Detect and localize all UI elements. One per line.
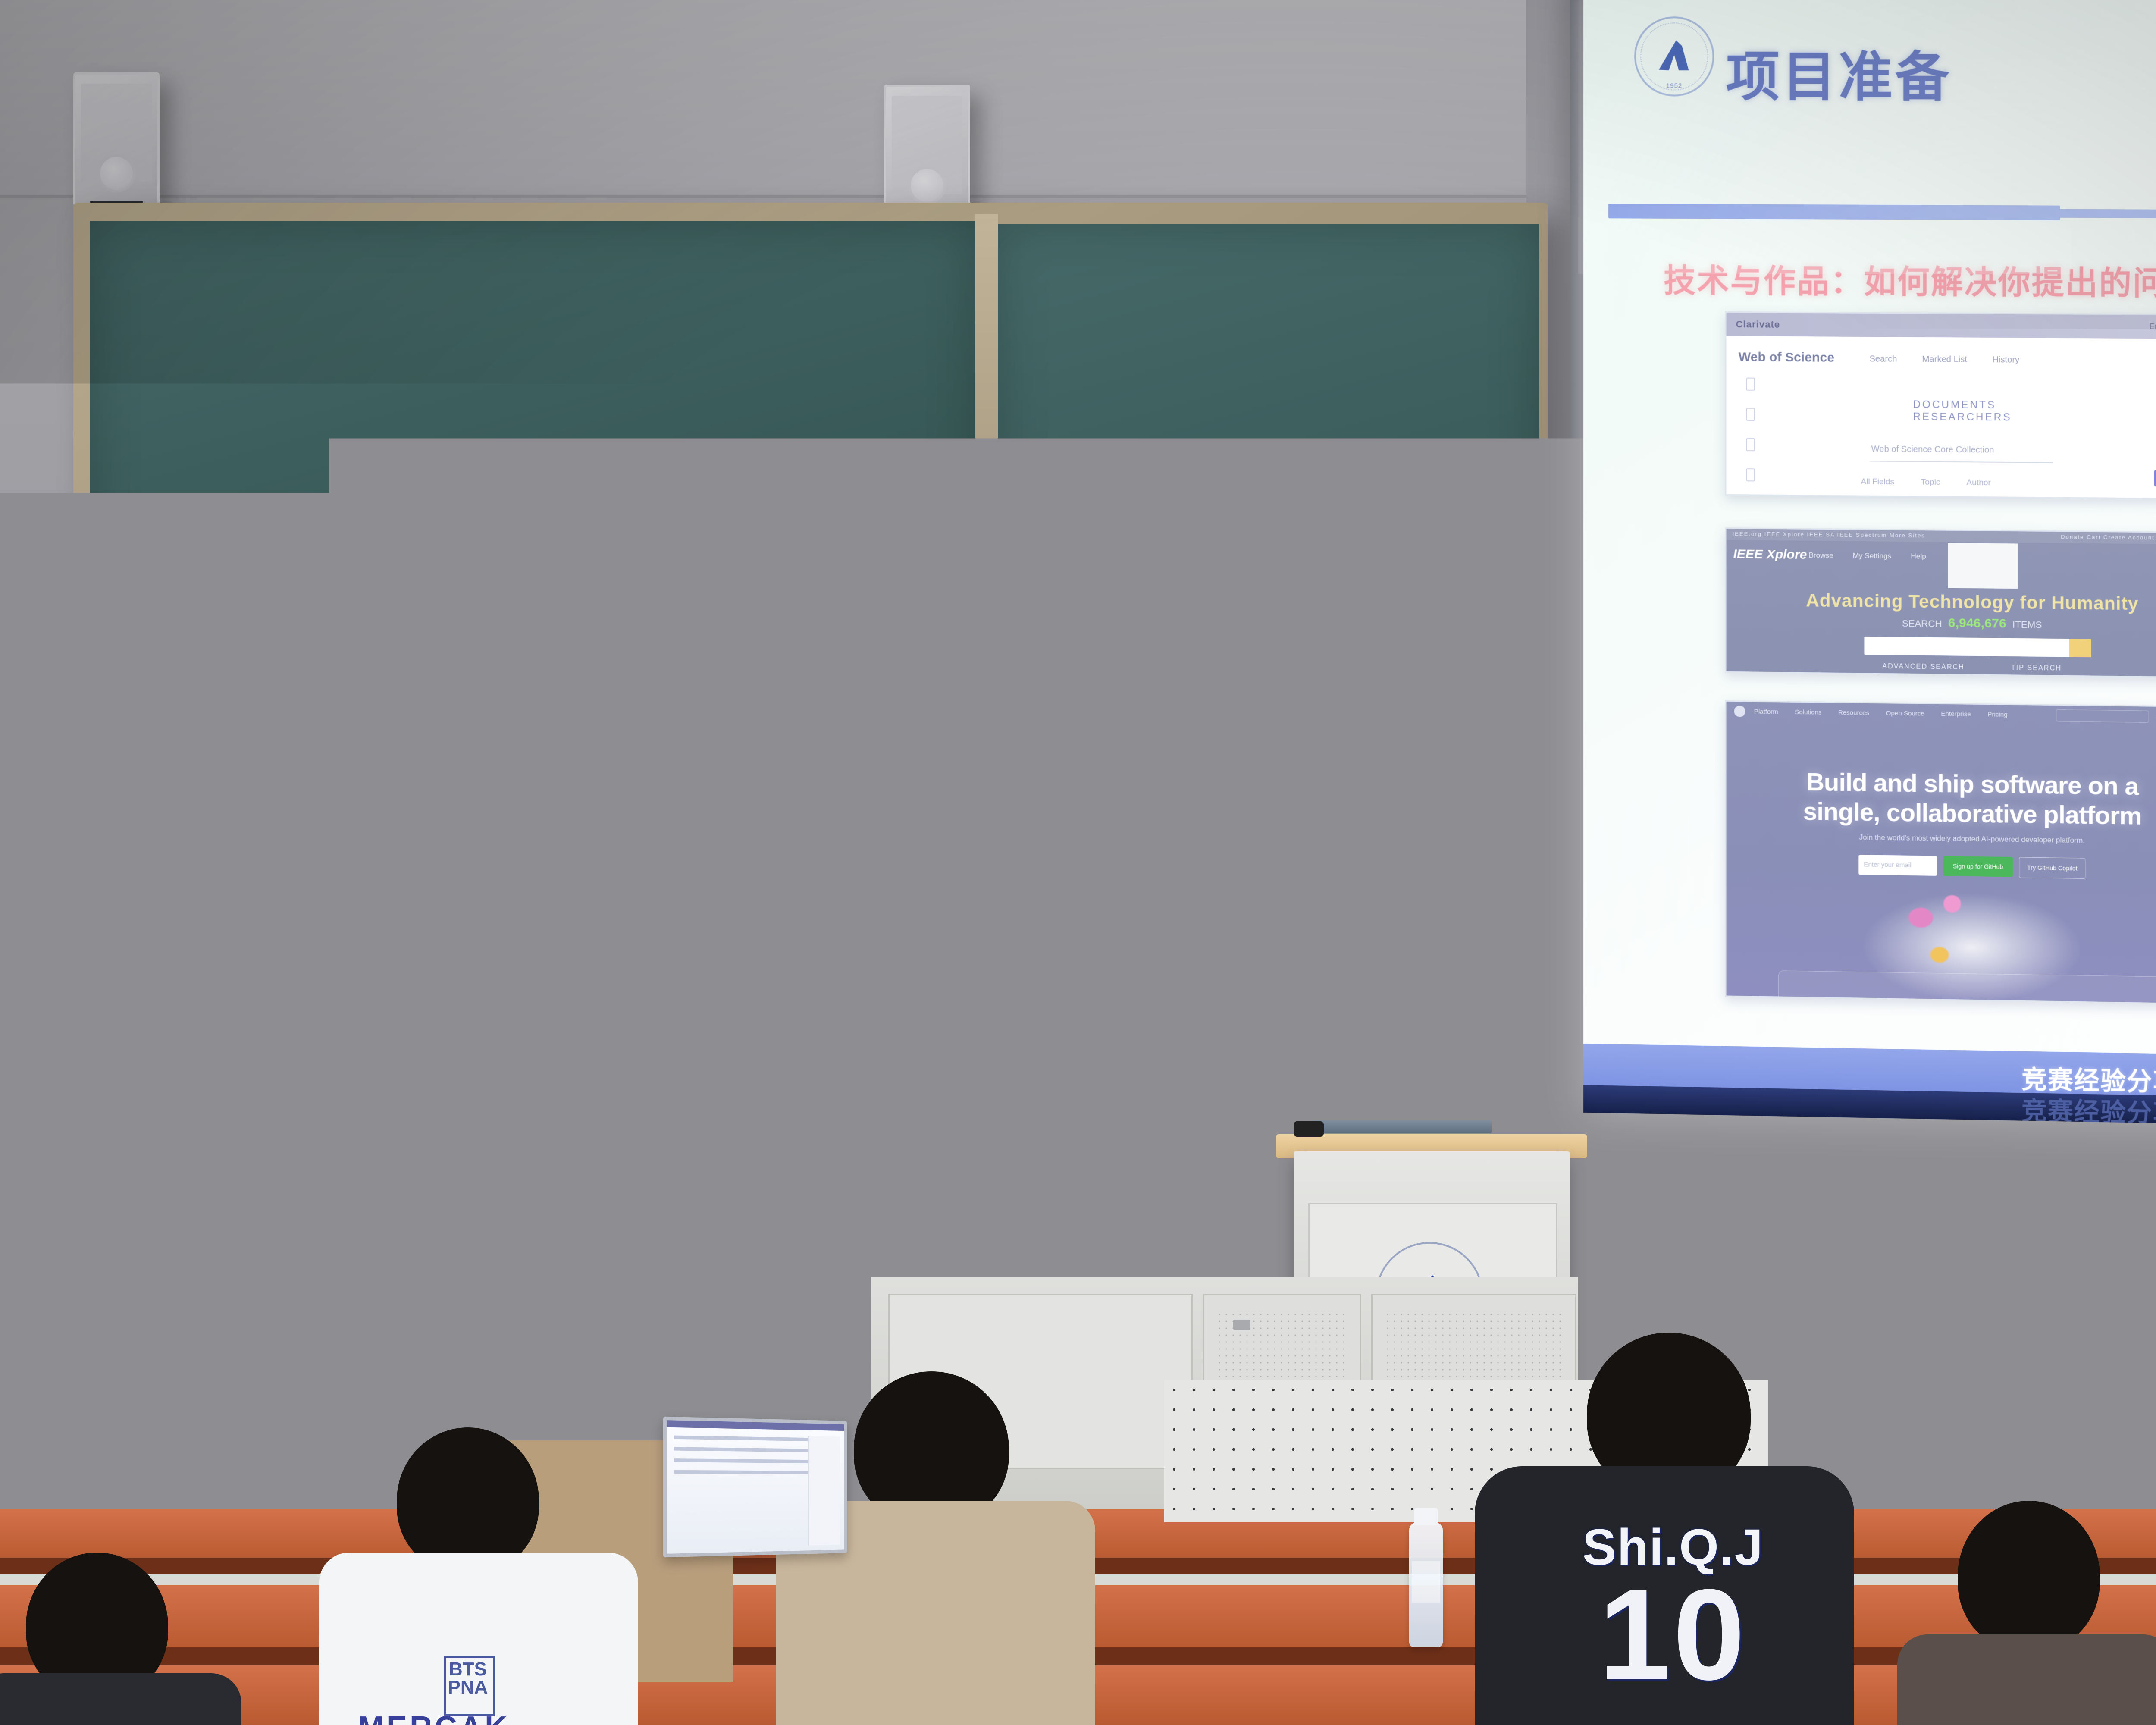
github-page: Platform Solutions Resources Open Source…	[1727, 702, 2156, 1004]
podium-remote[interactable]	[1294, 1121, 1324, 1137]
wall-speaker-left	[73, 72, 160, 206]
title-underline-bar	[1608, 204, 2060, 220]
wos-nav-history[interactable]: History	[1992, 355, 2019, 365]
github-email-input[interactable]: Enter your email	[1858, 855, 1937, 876]
ieee-count-suffix: ITEMS	[2012, 619, 2042, 630]
speaker-woofer	[97, 154, 135, 192]
github-nav-platform[interactable]: Platform	[1754, 708, 1778, 716]
github-subheadline: Join the world's most widely adopted AI-…	[1727, 831, 2156, 847]
github-email-placeholder: Enter your email	[1864, 861, 1911, 869]
ieee-xplore-logo: IEEE Xplore	[1733, 547, 1807, 562]
github-auth-links[interactable]: Sign in Sign up	[2144, 713, 2156, 721]
github-hero-blob-2	[1943, 895, 1961, 913]
ieee-topbar-left: IEEE.org IEEE Xplore IEEE SA IEEE Spectr…	[1733, 530, 1925, 539]
github-headline: Build and ship software on a single, col…	[1727, 766, 2156, 832]
github-preview-panel	[1778, 970, 2156, 1005]
github-hero-blob-3	[1930, 947, 1949, 963]
ieee-dropdown-card	[1948, 543, 2018, 589]
slide-title: 项目准备	[1726, 33, 1952, 112]
desk-headphone-case	[1837, 1574, 1919, 1613]
wos-collection-label: Web of Science Core Collection	[1871, 444, 1994, 455]
podium-tray	[1311, 1120, 1492, 1133]
laptop-titlebar	[667, 1420, 844, 1431]
github-nav-enterprise[interactable]: Enterprise	[1941, 710, 1971, 718]
wos-topbar: Clarivate English Products	[1727, 313, 2156, 339]
wall-seam	[0, 195, 1639, 198]
university-logo-icon: 1952	[1634, 16, 1714, 97]
student-head-2	[397, 1427, 539, 1574]
student-laptop[interactable]	[663, 1417, 847, 1558]
github-nav-solutions[interactable]: Solutions	[1795, 709, 1821, 716]
projection-screen[interactable]: 1952 项目准备 技术与作品：如何解决你提出的问题? Clarivate En…	[1583, 0, 2156, 1132]
github-hero-blob-1	[1908, 907, 1933, 928]
mouse[interactable]	[1231, 1246, 1271, 1269]
ieee-nav-help[interactable]: Help	[1911, 552, 1926, 560]
presenter-jacket-zipper	[926, 904, 933, 1206]
student-hoodie-wordmark: MERCAK	[358, 1710, 510, 1725]
github-nav-links[interactable]: Platform Solutions Resources Open Source…	[1754, 708, 2022, 719]
water-bottle	[1409, 1522, 1443, 1647]
github-signup-button[interactable]: Sign up for GitHub	[1943, 856, 2013, 877]
side-table-leg-left	[39, 1279, 50, 1477]
github-copilot-button[interactable]: Try GitHub Copilot	[2019, 857, 2085, 879]
presenter-glasses-left-lens	[849, 792, 894, 822]
blackboard-divider-horizontal	[82, 652, 1544, 674]
wos-filter-chips[interactable]: All Fields Topic Author	[1861, 477, 2015, 488]
blackboard-panel-bottom-left	[90, 673, 874, 1095]
wos-brand: Clarivate	[1736, 319, 1780, 330]
ieee-topbar: IEEE.org IEEE Xplore IEEE SA IEEE Spectr…	[1727, 529, 2156, 545]
wall-speaker-right	[884, 85, 970, 218]
desktop-monitor	[975, 1052, 1259, 1246]
student-hoodie-logo-text: BTS PNA	[448, 1660, 488, 1697]
keyboard[interactable]	[1022, 1242, 1263, 1273]
presenter-glasses-bridge	[887, 800, 899, 803]
ieee-search-links[interactable]: ADVANCED SEARCH TIP SEARCH	[1727, 661, 2156, 674]
student-head-1	[526, 1315, 668, 1458]
jersey-number: 10	[1561, 1570, 1785, 1699]
ieee-search-input[interactable]	[1864, 637, 2091, 657]
speaker-woofer	[908, 166, 946, 204]
wos-title: Web of Science	[1739, 350, 1834, 365]
blackboard-panel-top-left	[90, 221, 978, 652]
wos-nav-marked[interactable]: Marked List	[1922, 354, 1967, 364]
github-navbar: Platform Solutions Resources Open Source…	[1727, 702, 2156, 727]
title-underline-bar-thin	[2052, 209, 2156, 220]
blackboard-divider-vertical	[975, 214, 998, 671]
thumbnail-github[interactable]: Platform Solutions Resources Open Source…	[1725, 700, 2156, 1005]
laptop-document-lines	[674, 1436, 808, 1482]
wos-topbar-right: English Products	[2150, 322, 2156, 332]
logo-year: 1952	[1634, 82, 1714, 89]
ieee-nav-settings[interactable]: My Settings	[1853, 552, 1892, 560]
desk-cabinet-knob[interactable]	[1233, 1320, 1250, 1330]
github-headline-line2: single, collaborative platform	[1727, 796, 2156, 832]
wos-sidebar-icons	[1746, 378, 1755, 500]
monitor-vent	[1003, 1173, 1231, 1178]
github-cta-row: Enter your email Sign up for GitHub Try …	[1858, 855, 2085, 879]
ieee-page: IEEE.org IEEE Xplore IEEE SA IEEE Spectr…	[1727, 529, 2156, 677]
bottle-cap	[1414, 1508, 1438, 1525]
ieee-nav[interactable]: Browse My Settings Help	[1809, 551, 1944, 561]
lecture-hall-photo: 1952 项目准备 技术与作品：如何解决你提出的问题? Clarivate En…	[0, 0, 2156, 1725]
ieee-count-value: 6,946,676	[1948, 616, 2006, 631]
wos-collection-field[interactable]: Web of Science Core Collection	[1870, 442, 2053, 463]
presenter-hair-fringe	[837, 731, 960, 783]
student-body-3	[0, 1673, 241, 1725]
ieee-item-count: SEARCH 6,946,676 ITEMS	[1727, 613, 2156, 633]
presentation-slide: 1952 项目准备 技术与作品：如何解决你提出的问题? Clarivate En…	[1583, 0, 2156, 1132]
keyboard-keys[interactable]	[1026, 1245, 1259, 1257]
thumbnail-ieee-xplore[interactable]: IEEE.org IEEE Xplore IEEE SA IEEE Spectr…	[1725, 527, 2156, 678]
wos-tabs[interactable]: DOCUMENTS RESEARCHERS	[1913, 398, 2156, 425]
wos-chip-topic[interactable]: Topic	[1921, 478, 1940, 487]
student-body-ponytail	[1897, 1634, 2156, 1725]
backpack	[401, 1182, 634, 1264]
ieee-nav-browse[interactable]: Browse	[1809, 551, 1833, 560]
ieee-tagline: Advancing Technology for Humanity	[1727, 589, 2156, 615]
wos-chip-allfields[interactable]: All Fields	[1861, 477, 1894, 486]
wos-chip-author[interactable]: Author	[1966, 478, 1991, 487]
github-nav-opensource[interactable]: Open Source	[1886, 709, 1924, 717]
wos-tab-documents[interactable]: DOCUMENTS	[1913, 398, 1996, 411]
laptop-sidebar-pane	[808, 1436, 840, 1545]
ieee-topbar-right: Donate Cart Create Account Personal Sign…	[2061, 533, 2156, 541]
wos-nav-search[interactable]: Search	[1870, 354, 1897, 364]
thumbnail-web-of-science[interactable]: Clarivate English Products Web of Scienc…	[1725, 311, 2156, 500]
wos-nav-links[interactable]: Search Marked List History	[1870, 354, 2042, 365]
ieee-search-icon[interactable]	[2069, 639, 2091, 657]
wos-tab-researchers[interactable]: RESEARCHERS	[1913, 411, 2012, 423]
github-nav-resources[interactable]: Resources	[1838, 709, 1869, 717]
github-mark-icon	[1734, 706, 1745, 717]
bottle-label	[1412, 1561, 1440, 1603]
wos-search-button[interactable]	[2154, 470, 2156, 487]
ieee-advanced-search-link[interactable]: ADVANCED SEARCH	[1882, 663, 1965, 671]
ieee-count-prefix: SEARCH	[1902, 618, 1942, 629]
github-nav-pricing[interactable]: Pricing	[1987, 711, 2007, 718]
slide-subtitle: 技术与作品：如何解决你提出的问题?	[1664, 255, 2156, 304]
desk-blue-item	[906, 1169, 953, 1212]
student-hair-tie	[2044, 1570, 2084, 1609]
presenter-mouth	[881, 839, 907, 849]
github-search-input[interactable]	[2056, 709, 2149, 723]
ieee-tip-search-link[interactable]: TIP SEARCH	[2011, 664, 2062, 672]
